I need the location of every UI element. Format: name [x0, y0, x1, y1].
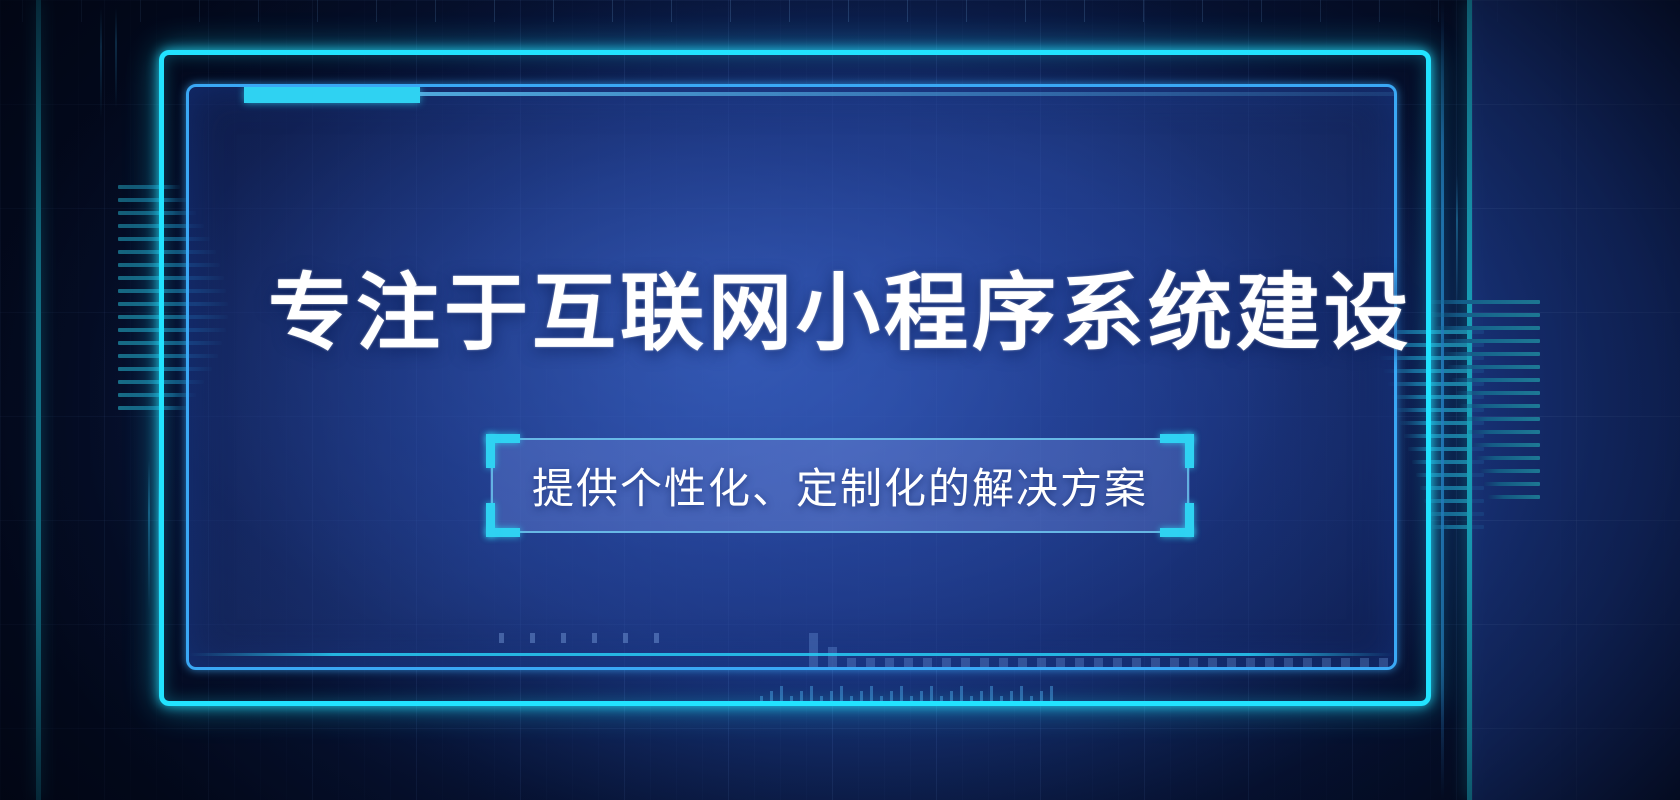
corner-bracket-top-left-icon [486, 434, 520, 468]
subtitle-right-rail [1187, 464, 1189, 507]
subtitle-left-rail [491, 464, 493, 507]
corner-bracket-bottom-right-icon [1160, 503, 1194, 537]
banner-subtitle-box: 提供个性化、定制化的解决方案 [490, 438, 1190, 533]
corner-bracket-bottom-left-icon [486, 503, 520, 537]
corner-bracket-top-right-icon [1160, 434, 1194, 468]
banner-stage: 专注于互联网小程序系统建设 提供个性化、定制化的解决方案 [0, 0, 1680, 800]
banner-subtitle: 提供个性化、定制化的解决方案 [532, 455, 1148, 516]
subtitle-bottom-line [516, 531, 1164, 533]
banner-headline: 专注于互联网小程序系统建设 [268, 267, 1412, 359]
subtitle-top-line [516, 438, 1164, 440]
banner-content: 专注于互联网小程序系统建设 提供个性化、定制化的解决方案 [0, 0, 1680, 800]
